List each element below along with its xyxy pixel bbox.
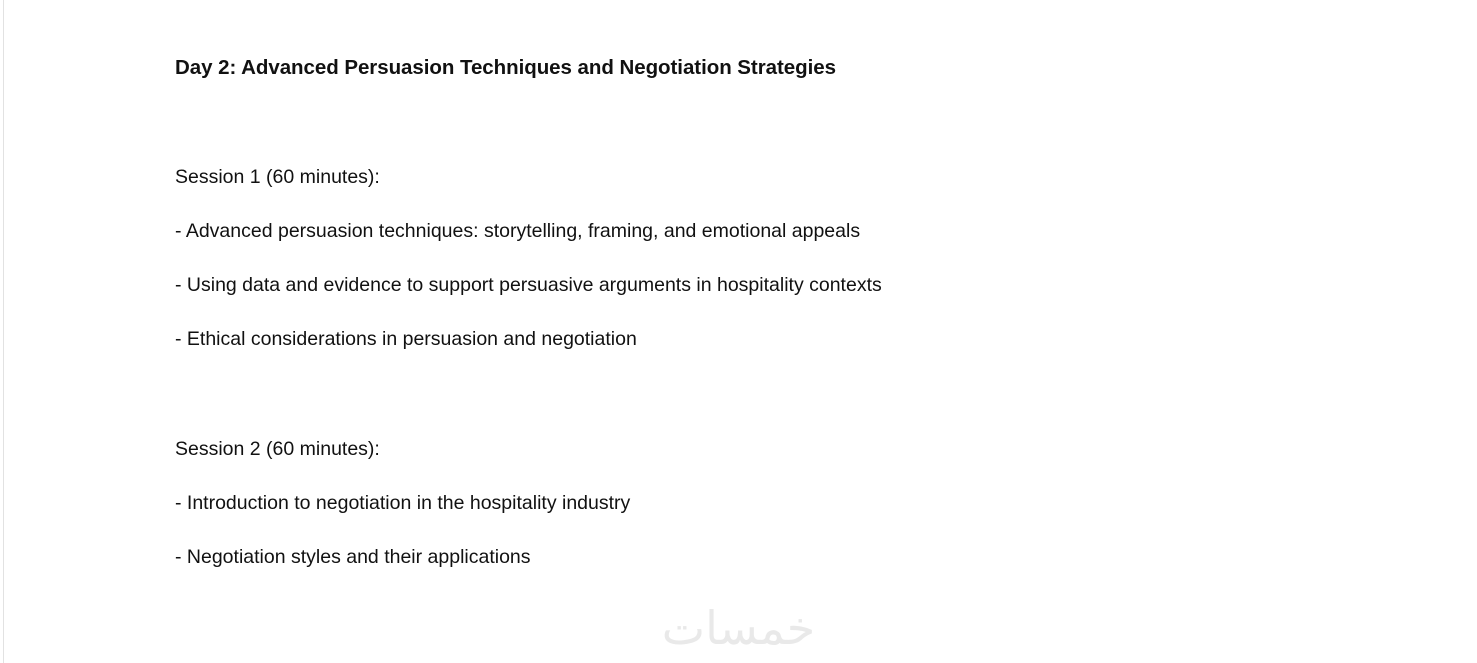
- bullet-item: - Negotiation styles and their applicati…: [175, 544, 630, 571]
- section-heading-session-1: Session 1 (60 minutes):: [175, 164, 882, 191]
- bullet-item: - Introduction to negotiation in the hos…: [175, 490, 630, 517]
- page-title: Day 2: Advanced Persuasion Techniques an…: [175, 56, 836, 80]
- bullet-item: - Using data and evidence to support per…: [175, 272, 882, 299]
- section-session-1: Session 1 (60 minutes): - Advanced persu…: [175, 164, 882, 353]
- section-session-2: Session 2 (60 minutes): - Introduction t…: [175, 436, 630, 571]
- watermark-khamsat: خمسات: [0, 600, 1477, 656]
- document-page: Day 2: Advanced Persuasion Techniques an…: [0, 0, 1477, 663]
- section-heading-session-2: Session 2 (60 minutes):: [175, 436, 630, 463]
- page-edge-rule: [3, 0, 4, 663]
- bullet-item: - Advanced persuasion techniques: storyt…: [175, 218, 882, 245]
- bullet-item: - Ethical considerations in persuasion a…: [175, 326, 882, 353]
